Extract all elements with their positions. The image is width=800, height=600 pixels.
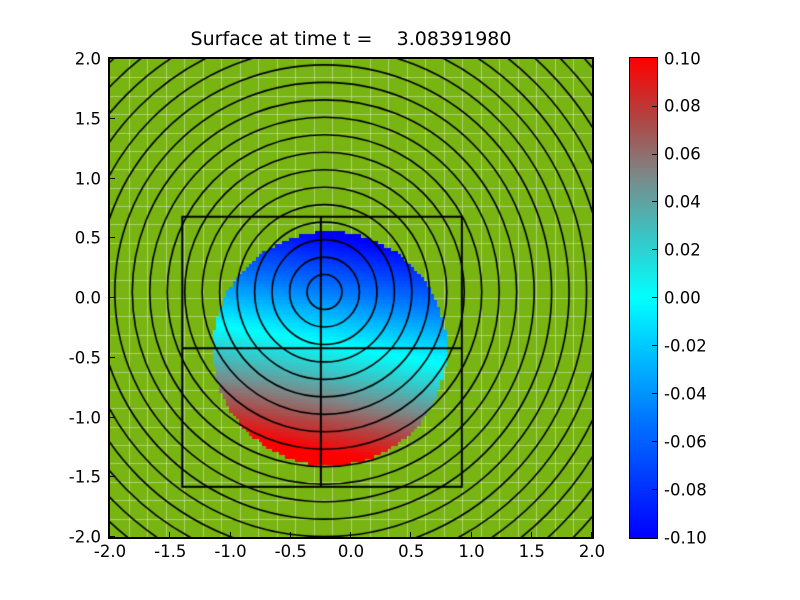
page-title: Surface at time t = 3.08391980	[108, 28, 594, 50]
x-axis-tick-label: 1.0	[458, 542, 484, 561]
x-axis-tick	[169, 532, 170, 537]
colorbar-tick-label: -0.04	[664, 384, 707, 403]
x-axis-tick-label: 2.0	[579, 542, 605, 561]
y-axis-tick	[110, 58, 115, 59]
x-axis-tick	[410, 532, 411, 537]
colorbar-tick	[652, 249, 657, 250]
y-axis-tick-label: -2.0	[69, 528, 101, 547]
colorbar-tick-label: 0.06	[664, 145, 701, 164]
y-axis-tick-label: 1.5	[75, 109, 101, 128]
colorbar-tick	[652, 154, 657, 155]
colorbar-tick	[652, 297, 657, 298]
y-axis-tick-label: -0.5	[69, 348, 101, 367]
figure-canvas: Surface at time t = 3.08391980 -2.0-1.5-…	[0, 0, 800, 600]
surface-pcolor-plot	[110, 59, 592, 537]
x-axis-tick	[531, 532, 532, 537]
x-axis-tick	[471, 532, 472, 537]
colorbar-tick	[652, 201, 657, 202]
x-axis-tick-label: -1.0	[214, 542, 246, 561]
colorbar-tick	[652, 345, 657, 346]
colorbar-tick-label: -0.02	[664, 336, 707, 355]
colorbar-tick	[652, 106, 657, 107]
y-axis-tick	[110, 118, 115, 119]
x-axis-tick-label: -1.5	[154, 542, 186, 561]
colorbar-tick-label: -0.08	[664, 480, 707, 499]
y-axis-tick	[110, 237, 115, 238]
x-axis-tick	[350, 532, 351, 537]
main-plot-axes[interactable]	[108, 57, 594, 539]
y-axis-tick	[110, 417, 115, 418]
colorbar-tick-label: 0.08	[664, 97, 701, 116]
y-axis-tick	[110, 357, 115, 358]
colorbar-tick	[652, 489, 657, 490]
y-axis-tick-label: 0.5	[75, 229, 101, 248]
colorbar-tick-label: 0.10	[664, 49, 701, 68]
x-axis-tick	[230, 532, 231, 537]
x-axis-tick-label: -0.5	[275, 542, 307, 561]
colorbar-tick	[652, 393, 657, 394]
y-axis-tick	[110, 476, 115, 477]
y-axis-tick	[110, 536, 115, 537]
x-axis-tick	[290, 532, 291, 537]
y-axis-tick-label: -1.5	[69, 468, 101, 487]
colorbar-tick-label: 0.04	[664, 193, 701, 212]
x-axis-tick-label: 0.0	[338, 542, 364, 561]
colorbar-tick-label: -0.06	[664, 432, 707, 451]
y-axis-tick-label: 2.0	[75, 50, 101, 69]
x-axis-tick-label: 0.5	[398, 542, 424, 561]
colorbar-tick-label: 0.02	[664, 241, 701, 260]
colorbar-tick-label: -0.10	[664, 528, 707, 547]
colorbar-tick	[652, 441, 657, 442]
colorbar-tick-label: 0.00	[664, 289, 701, 308]
x-axis-tick	[591, 532, 592, 537]
y-axis-tick-label: 0.0	[75, 289, 101, 308]
y-axis-tick	[110, 297, 115, 298]
y-axis-tick-label: 1.0	[75, 169, 101, 188]
y-axis-tick-label: -1.0	[69, 408, 101, 427]
x-axis-tick-label: 1.5	[519, 542, 545, 561]
y-axis-tick	[110, 178, 115, 179]
